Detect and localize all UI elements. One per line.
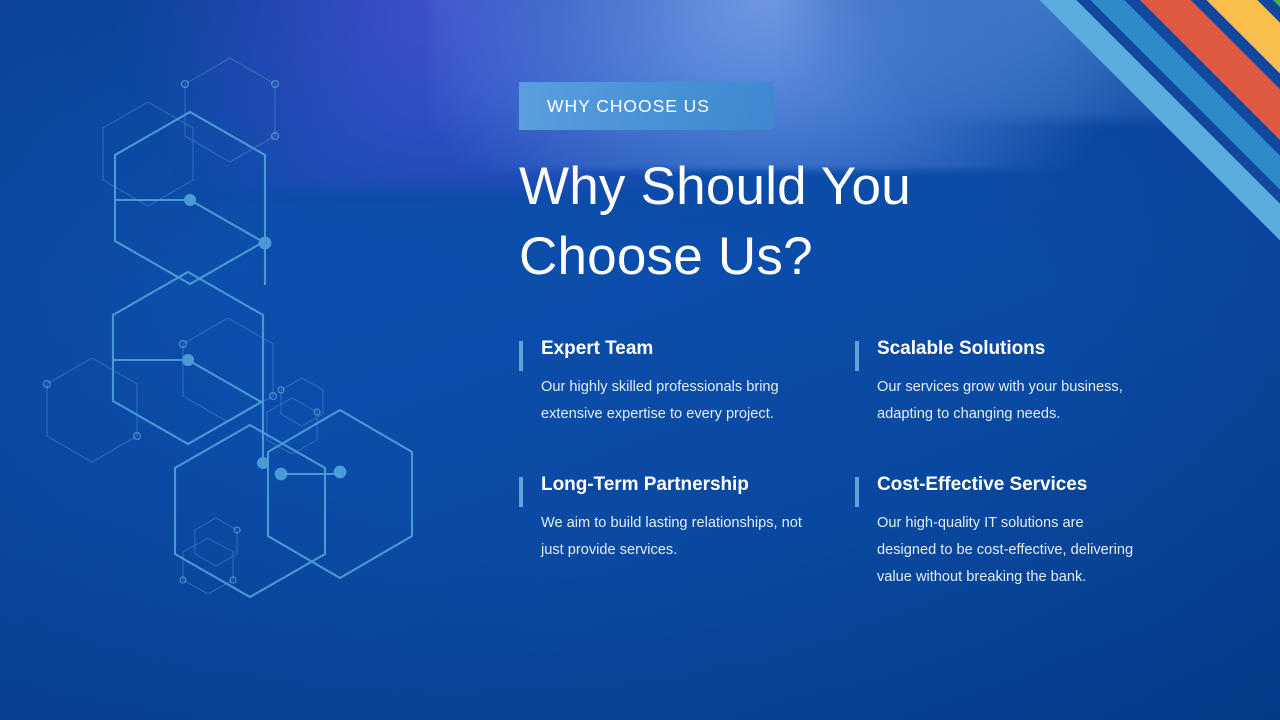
page-title-line-2: Choose Us? xyxy=(519,222,1159,292)
eyebrow-badge: WHY CHOOSE US xyxy=(519,82,774,130)
hexagon-faint-top xyxy=(185,58,275,162)
hexagon-bright-bottom-right xyxy=(268,410,412,578)
feature-card-body: Our services grow with your business, ad… xyxy=(877,374,1145,428)
hexagon-bright-lower xyxy=(175,425,325,597)
accent-bar xyxy=(519,341,523,371)
node-dot xyxy=(184,194,196,206)
eyebrow-label: WHY CHOOSE US xyxy=(519,96,710,117)
accent-bar xyxy=(855,477,859,507)
hex-connectors xyxy=(113,200,265,462)
hexagon-faint-left xyxy=(47,358,137,462)
node-dot xyxy=(257,457,269,469)
feature-card-grid: Expert Team Our highly skilled professio… xyxy=(519,336,1179,591)
feature-card-long-term-partnership: Long-Term Partnership We aim to build la… xyxy=(519,472,837,591)
hex-faint-group xyxy=(47,58,323,594)
accent-bar xyxy=(519,477,523,507)
feature-card-body: Our highly skilled professionals bring e… xyxy=(541,374,809,428)
hexagon-faint-mid xyxy=(183,318,273,422)
node-dot xyxy=(334,466,347,479)
hexagon-faint-small-right xyxy=(267,398,317,454)
hex-node-dots xyxy=(182,194,346,480)
feature-card-expert-team: Expert Team Our highly skilled professio… xyxy=(519,336,837,428)
feature-card-title: Cost-Effective Services xyxy=(877,472,1173,498)
hex-bright-group xyxy=(113,112,412,597)
page-title-line-1: Why Should You xyxy=(519,152,1159,222)
feature-card-title: Expert Team xyxy=(541,336,837,362)
feature-card-title: Scalable Solutions xyxy=(877,336,1173,362)
node-dot xyxy=(259,237,272,250)
hexagon-network-decoration xyxy=(0,40,470,660)
feature-card-cost-effective-services: Cost-Effective Services Our high-quality… xyxy=(855,472,1173,591)
page-title: Why Should You Choose Us? xyxy=(519,152,1159,292)
hex-vertex-rings xyxy=(44,81,320,583)
feature-card-title: Long-Term Partnership xyxy=(541,472,837,498)
connector-lower xyxy=(113,360,263,462)
hexagon-faint-small-bottom xyxy=(183,538,233,594)
accent-bar xyxy=(855,341,859,371)
feature-card-body: We aim to build lasting relationships, n… xyxy=(541,510,809,564)
content-column: WHY CHOOSE US Why Should You Choose Us? … xyxy=(519,0,1219,720)
feature-card-body: Our high-quality IT solutions are design… xyxy=(877,510,1139,591)
node-dot xyxy=(182,354,194,366)
feature-card-scalable-solutions: Scalable Solutions Our services grow wit… xyxy=(855,336,1173,428)
slide-canvas: WHY CHOOSE US Why Should You Choose Us? … xyxy=(0,0,1280,720)
